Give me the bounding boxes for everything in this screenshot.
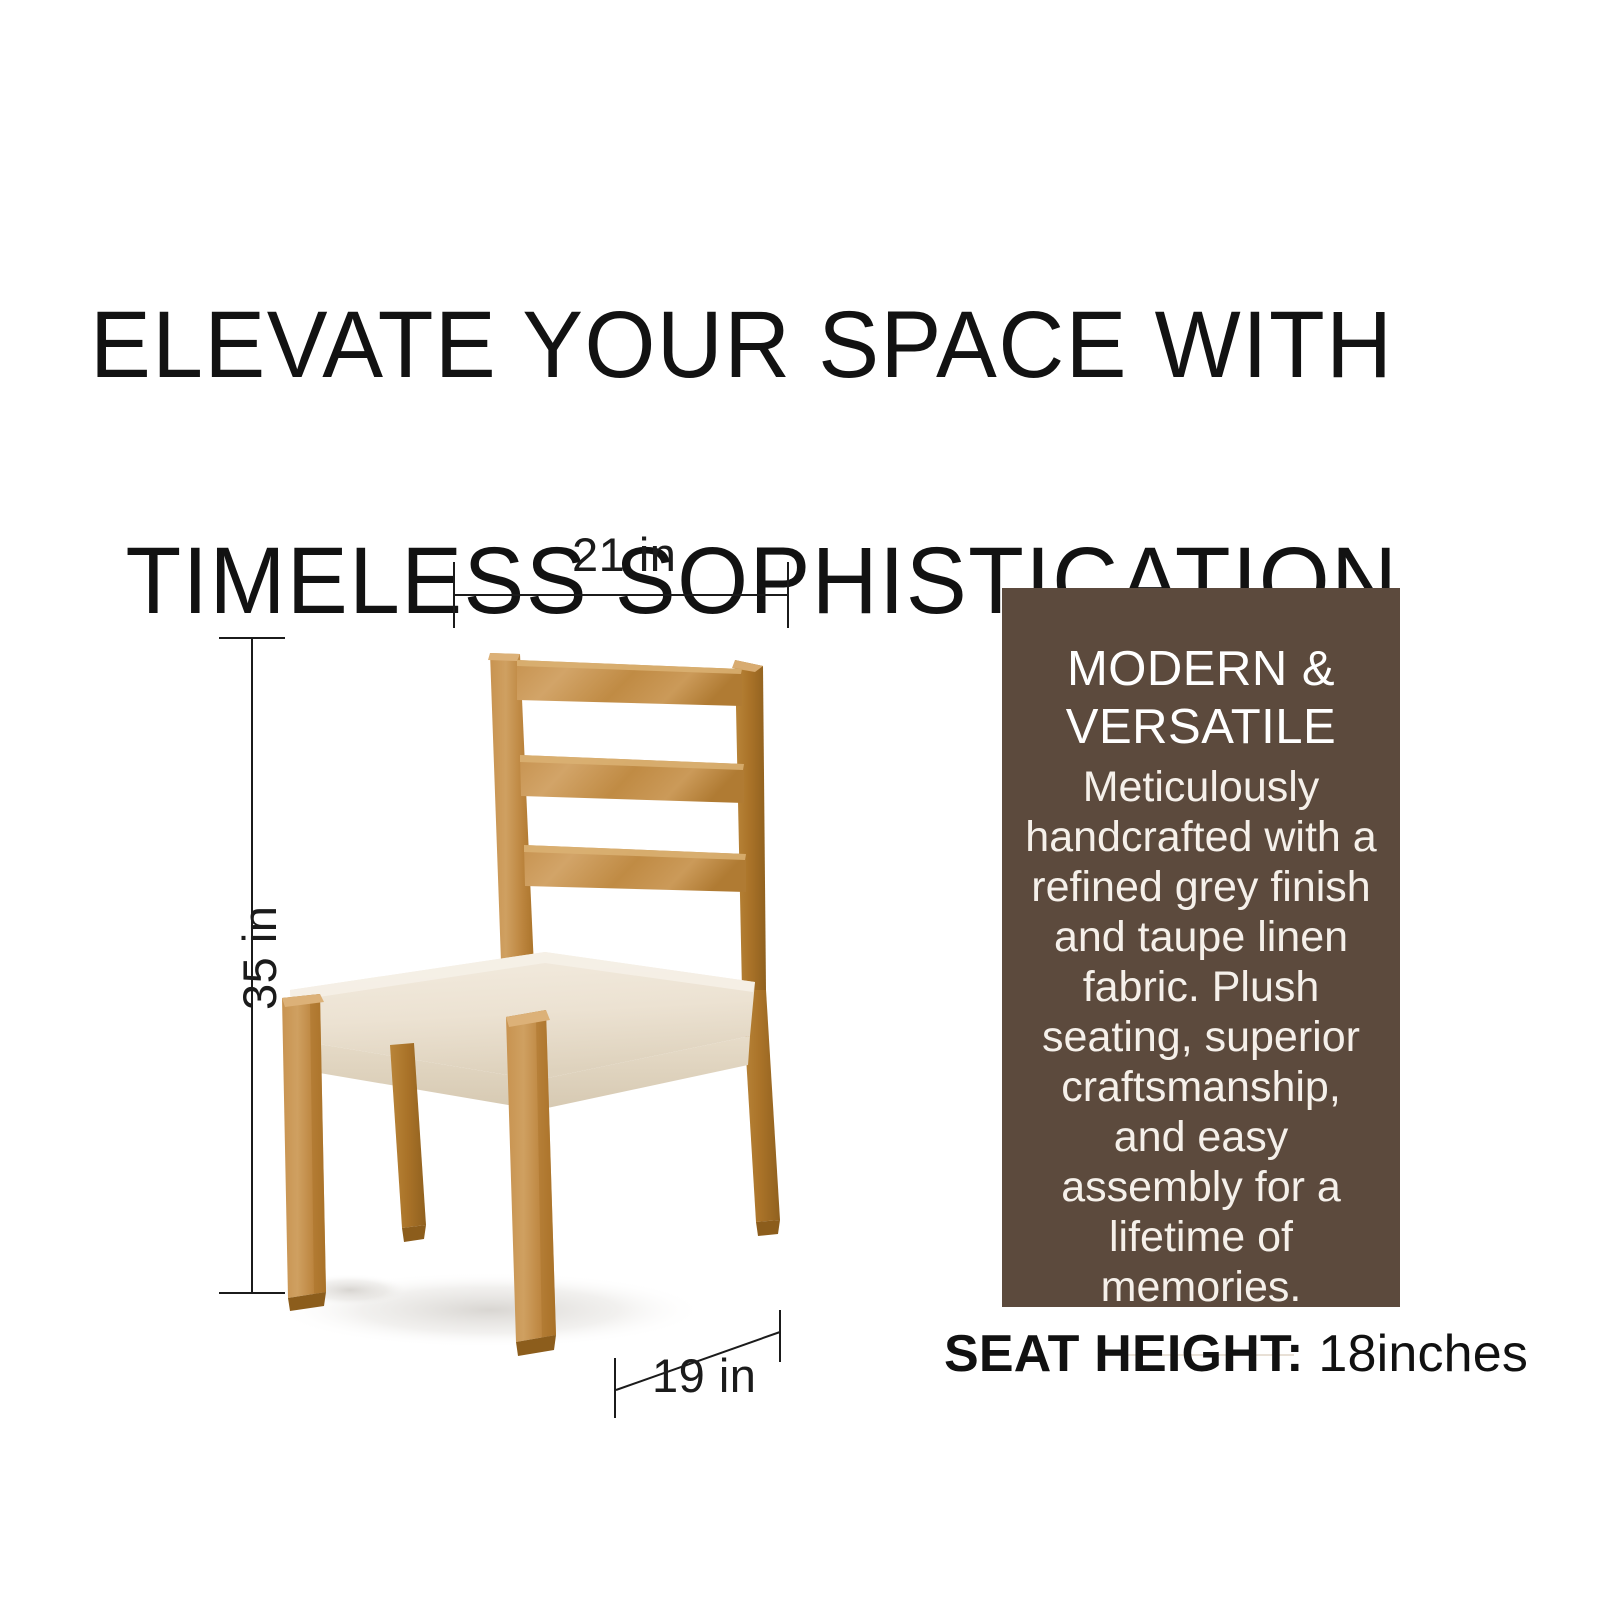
chair-back-stile-left [490,653,535,990]
seat-height-key: SEAT HEIGHT: [944,1325,1304,1383]
infographic-canvas: ELEVATE YOUR SPACE WITH TIMELESS SOPHIST… [0,0,1600,1600]
dimension-width-label: 21 in [572,527,676,582]
dimension-width-tick-left [453,562,455,628]
feature-panel-heading: MODERN & VERSATILE [1024,640,1378,756]
chair-back-stile-left-top [488,653,520,661]
seat-height-value: 18inches [1318,1325,1528,1383]
dimension-height-tick-top [219,637,285,639]
seat-height-caption: SEAT HEIGHT: 18inches [944,1324,1504,1384]
dimension-depth-label: 19 in [652,1348,756,1403]
dimension-height-tick-bottom [219,1292,285,1294]
feature-panel: MODERN & VERSATILE Meticulously handcraf… [1002,588,1400,1307]
dimension-width-line [453,594,789,596]
feature-panel-body: Meticulously handcrafted with a refined … [1024,762,1378,1312]
chair-leg-rear-left-foot [402,1225,426,1242]
chair-leg-rear-right-foot [756,1220,780,1236]
dimension-height-label: 35 in [232,906,287,1010]
chair-back-stile-right [735,660,766,990]
dimension-width-tick-right [787,562,789,628]
headline-line-1: ELEVATE YOUR SPACE WITH [90,286,1463,404]
